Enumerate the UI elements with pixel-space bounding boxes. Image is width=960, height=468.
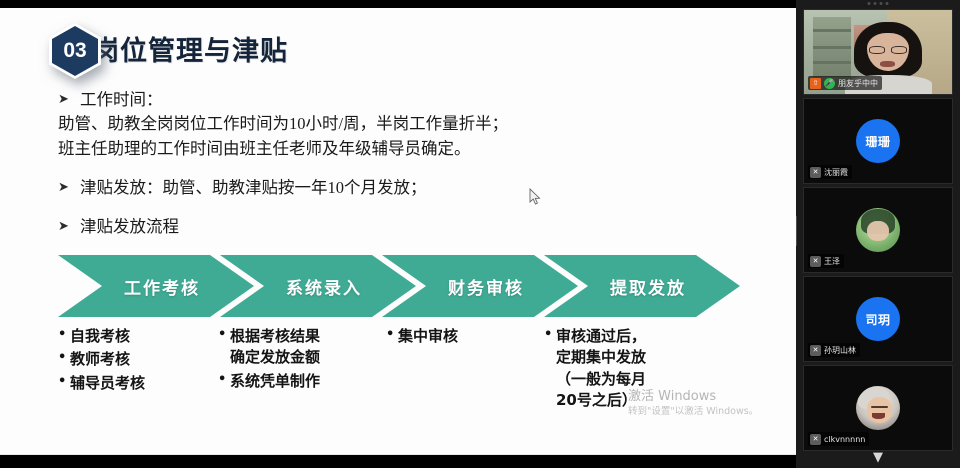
bullet-dot-icon: • (58, 349, 70, 368)
section-number-hexagon-badge: 03 (52, 26, 98, 76)
process-detail-column-1: •自我考核 •教师考核 •辅导员考核 (58, 326, 218, 413)
avatar: 司玥 (856, 297, 900, 341)
screen-share-icon: ⇧ (810, 78, 821, 89)
process-step-1: 工作考核 (58, 255, 254, 317)
process-detail-column-3: •集中审核 (386, 326, 544, 413)
participant-name: clkvnnnnn (824, 435, 865, 444)
microphone-on-icon: 🎤 (824, 78, 835, 89)
background-shelf (813, 17, 851, 77)
bullet-dot-icon: • (218, 326, 230, 345)
work-time-detail-line-2: 班主任助理的工作时间由班主任老师及年级辅导员确定。 (58, 137, 758, 162)
participant-name: 沈丽霞 (824, 167, 848, 178)
process-chevron-row: 工作考核 系统录入 财务审核 提取发放 (58, 255, 730, 317)
list-item: •审核通过后， 定期集中发放 （一般为每月 20号之后） (544, 326, 724, 411)
slide-title-row: 03 岗位管理与津贴 (52, 26, 288, 76)
arrow-bullet-icon: ➤ (58, 88, 80, 110)
arrow-bullet-icon: ➤ (58, 215, 80, 237)
avatar (856, 208, 900, 252)
arrow-bullet-icon: ➤ (58, 176, 80, 198)
list-item: •系统凭单制作 (218, 371, 386, 392)
participant-name: 朋友乎中中 (838, 78, 878, 89)
participant-tile-3[interactable]: ✕ 王泽 (803, 187, 953, 273)
participant-name-chip: ✕ 王泽 (808, 254, 844, 268)
list-item-text: 系统凭单制作 (230, 371, 320, 392)
list-item-text: 根据考核结果 确定发放金额 (230, 326, 320, 369)
bullet-allowance-process: ➤ 津贴发放流程 (58, 215, 758, 239)
participant-name-chip: ✕ clkvnnnnn (808, 432, 869, 446)
avatar: 珊珊 (856, 119, 900, 163)
process-step-1-label: 工作考核 (124, 274, 200, 299)
slide-body: ➤ 工作时间： 助管、助教全岗岗位工作时间为10小时/周，半岗工作量折半； 班主… (58, 88, 758, 239)
collapse-strip-handle[interactable]: › (796, 216, 797, 246)
bullet-work-time-text: 工作时间： (80, 88, 163, 112)
participant-name: 孙玥山林 (824, 345, 856, 356)
list-item: •辅导员考核 (58, 373, 218, 394)
list-item-text: 集中审核 (398, 326, 458, 347)
section-number: 03 (63, 40, 86, 62)
list-item: •根据考核结果 确定发放金额 (218, 326, 386, 369)
page-title: 岗位管理与津贴 (92, 38, 288, 65)
bullet-dot-icon: • (58, 326, 70, 345)
participant-tile-2[interactable]: 珊珊 ✕ 沈丽霞 (803, 98, 953, 184)
list-item-text: 审核通过后， 定期集中发放 （一般为每月 20号之后） (556, 326, 646, 411)
strip-handle-dots-icon (868, 2, 889, 5)
mouth-shape (880, 61, 895, 67)
microphone-muted-icon: ✕ (810, 345, 821, 356)
microphone-muted-icon: ✕ (810, 167, 821, 178)
meeting-screen-share-window: 03 岗位管理与津贴 ➤ 工作时间： 助管、助教全岗岗位工作时间为10小时/周，… (0, 0, 960, 468)
process-detail-columns: •自我考核 •教师考核 •辅导员考核 •根据考核结果 确定发放金额 •系统凭单制… (58, 326, 758, 413)
participant-tile-5[interactable]: ✕ clkvnnnnn (803, 365, 953, 451)
process-step-3-label: 财务审核 (448, 274, 524, 299)
avatar-face-shape (867, 221, 888, 241)
participant-name: 王泽 (824, 256, 840, 267)
scroll-down-chevron-icon[interactable]: ▼ (867, 450, 889, 464)
bullet-dot-icon: • (218, 371, 230, 390)
spacer (58, 161, 758, 176)
participant-name-chip: ✕ 孙玥山林 (808, 343, 860, 357)
list-item: •集中审核 (386, 326, 544, 347)
bullet-dot-icon: • (544, 326, 556, 345)
list-item-text: 教师考核 (70, 349, 130, 370)
bullet-work-time: ➤ 工作时间： (58, 88, 758, 112)
process-detail-column-2: •根据考核结果 确定发放金额 •系统凭单制作 (218, 326, 386, 413)
avatar-face-shape (867, 397, 893, 423)
bullet-dot-icon: • (58, 373, 70, 392)
process-detail-column-4: •审核通过后， 定期集中发放 （一般为每月 20号之后） (544, 326, 724, 413)
microphone-muted-icon: ✕ (810, 256, 821, 267)
spacer (58, 200, 758, 215)
participant-name-chip: ✕ 沈丽霞 (808, 165, 852, 179)
avatar-mouth-shape (872, 413, 885, 418)
list-item: •自我考核 (58, 326, 218, 347)
participant-tile-1[interactable]: ⇧ 🎤 朋友乎中中 (803, 9, 953, 95)
microphone-muted-icon: ✕ (810, 434, 821, 445)
bullet-allowance-payment: ➤ 津贴发放：助管、助教津贴按一年10个月发放； (58, 176, 758, 200)
shared-slide: 03 岗位管理与津贴 ➤ 工作时间： 助管、助教全岗岗位工作时间为10小时/周，… (0, 8, 796, 455)
list-item-text: 自我考核 (70, 326, 130, 347)
work-time-detail-line-1: 助管、助教全岗岗位工作时间为10小时/周，半岗工作量折半； (58, 112, 758, 137)
participant-name-chip: ⇧ 🎤 朋友乎中中 (808, 76, 882, 90)
process-step-4-label: 提取发放 (610, 274, 686, 299)
glasses-icon (869, 46, 907, 53)
bullet-allowance-payment-text: 津贴发放：助管、助教津贴按一年10个月发放； (80, 176, 427, 200)
bullet-dot-icon: • (386, 326, 398, 345)
bullet-allowance-process-text: 津贴发放流程 (80, 215, 179, 239)
list-item: •教师考核 (58, 349, 218, 370)
avatar (856, 386, 900, 430)
process-step-2-label: 系统录入 (286, 274, 362, 299)
mouse-cursor (529, 188, 541, 205)
participant-tile-4[interactable]: 司玥 ✕ 孙玥山林 (803, 276, 953, 362)
avatar-eyes-shape (871, 406, 888, 408)
list-item-text: 辅导员考核 (70, 373, 145, 394)
participant-video-strip[interactable]: ⇧ 🎤 朋友乎中中 珊珊 ✕ 沈丽霞 ✕ 王泽 (796, 0, 960, 468)
